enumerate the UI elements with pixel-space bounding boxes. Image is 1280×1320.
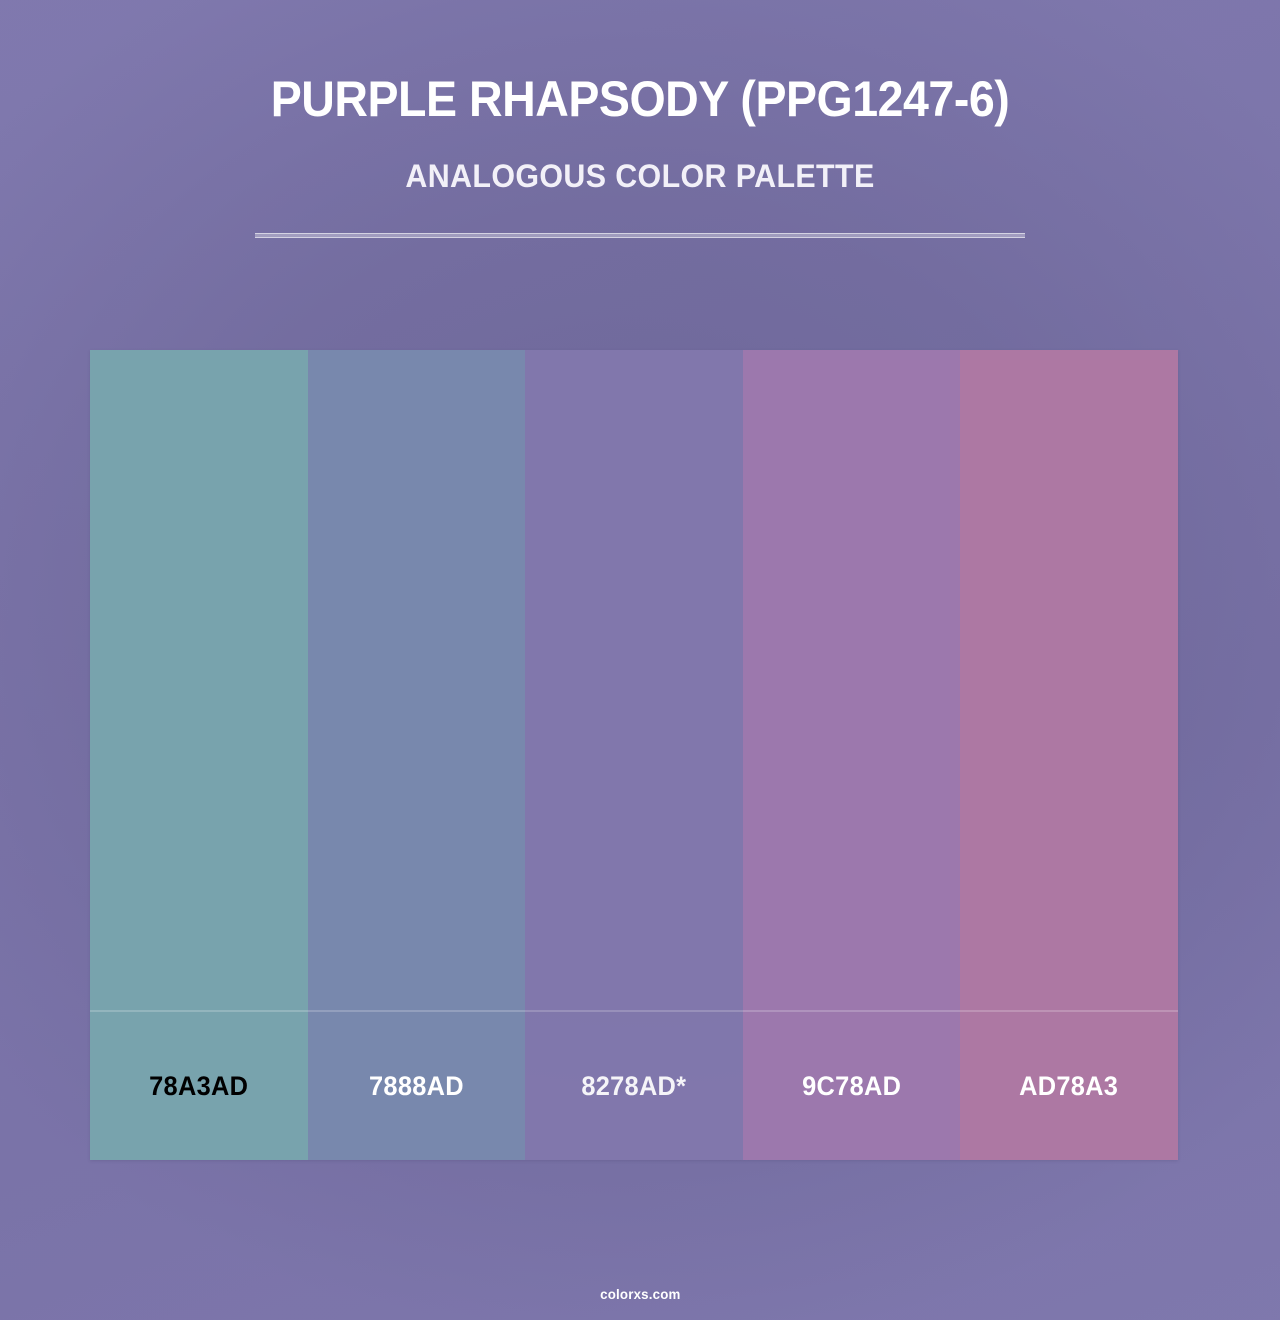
swatch-label-cell[interactable]: 7888AD (308, 1010, 526, 1160)
swatch-column-4[interactable]: 9C78AD (743, 350, 961, 1160)
page-title: PURPLE RHAPSODY (PPG1247-6) (45, 74, 1235, 124)
swatch-label-cell[interactable]: 9C78AD (743, 1010, 961, 1160)
swatch-hex-label: 8278AD* (581, 1071, 686, 1102)
swatch-hex-label: 9C78AD (802, 1071, 901, 1102)
swatch-color-block[interactable] (525, 350, 743, 1010)
swatch-column-5[interactable]: AD78A3 (960, 350, 1178, 1160)
swatch-color-block[interactable] (90, 350, 308, 1010)
footer: colorxs.com (0, 1286, 1280, 1304)
header: PURPLE RHAPSODY (PPG1247-6) ANALOGOUS CO… (0, 0, 1280, 192)
page-subtitle: ANALOGOUS COLOR PALETTE (32, 160, 1248, 192)
swatch-color-block[interactable] (960, 350, 1178, 1010)
swatch-column-2[interactable]: 7888AD (308, 350, 526, 1160)
swatch-color-block[interactable] (308, 350, 526, 1010)
swatch-color-block[interactable] (743, 350, 961, 1010)
swatch-label-cell[interactable]: 78A3AD (90, 1010, 308, 1160)
swatch-label-cell[interactable]: AD78A3 (960, 1010, 1178, 1160)
swatch-hex-label: AD78A3 (1020, 1071, 1119, 1102)
swatch-label-cell[interactable]: 8278AD* (525, 1010, 743, 1160)
swatch-hex-label: 7888AD (369, 1071, 464, 1102)
title-divider (255, 233, 1025, 238)
swatch-column-1[interactable]: 78A3AD (90, 350, 308, 1160)
color-palette: 78A3AD7888AD8278AD*9C78ADAD78A3 (90, 350, 1178, 1160)
swatch-hex-label: 78A3AD (149, 1071, 248, 1102)
footer-brand-label: colorxs.com (600, 1286, 680, 1302)
swatch-column-3[interactable]: 8278AD* (525, 350, 743, 1160)
